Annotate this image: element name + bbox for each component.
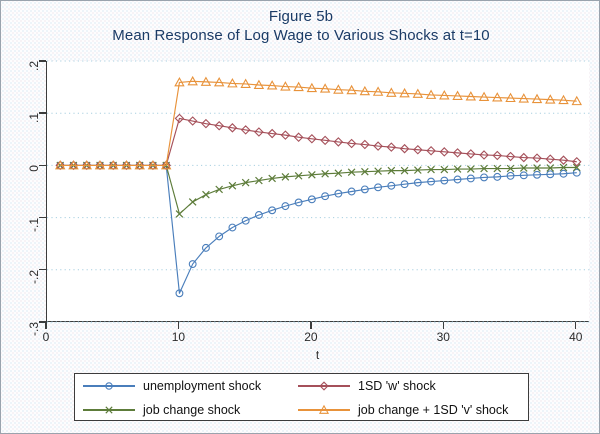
legend-entry-1sd-w-shock[interactable]: 1SD 'w' shock [290,375,530,397]
legend-key [83,403,135,417]
y-axis-tick-mark [39,112,46,113]
data-point-marker [203,191,210,198]
x-axis-tick-label: 20 [291,330,331,344]
legend-entry-job-change-1sd-v-shock[interactable]: job change + 1SD 'v' shock [290,399,530,421]
x-axis-tick-label: 40 [556,330,596,344]
data-point-marker [320,382,328,390]
data-point-marker [320,406,328,413]
legend-label: unemployment shock [143,379,261,393]
circle-marker-icon [103,380,115,392]
x-axis-label: t [46,348,589,362]
y-axis-tick-label: 0 [27,165,41,199]
series-line [60,118,577,165]
y-axis-tick: .1 [1,106,46,120]
diamond-marker-icon [318,380,330,392]
y-axis-tick: 0 [1,158,46,172]
data-series-layer [47,61,590,322]
y-axis-tick-mark [39,60,46,61]
title-line-primary: Figure 5b [1,7,600,26]
plot-inner [47,61,589,321]
y-axis-tick-label: .1 [27,113,41,147]
y-axis-tick-label: -.1 [27,218,41,252]
legend-label: 1SD 'w' shock [358,379,436,393]
legend-entry-unemployment-shock[interactable]: unemployment shock [75,375,290,397]
y-axis-tick: .2 [1,54,46,68]
data-point-marker [189,199,196,206]
series-line [60,165,577,214]
chart-title: Figure 5b Mean Response of Log Wage to V… [1,7,600,45]
data-point-marker [216,186,223,193]
y-axis-tick-label: -.2 [27,270,41,304]
y-axis-tick: -.2 [1,263,46,277]
data-point-marker [106,407,112,413]
x-axis-tick-mark [575,322,576,329]
y-axis-tick-mark [39,165,46,166]
x-axis-tick-mark [178,322,179,329]
chart-legend: unemployment shock1SD 'w' shockjob chang… [74,373,529,421]
triangle-marker-icon [318,404,330,416]
chart-figure: Figure 5b Mean Response of Log Wage to V… [0,0,600,434]
x-axis-tick-label: 0 [26,330,66,344]
title-line-secondary: Mean Response of Log Wage to Various Sho… [1,26,600,45]
series-line [60,165,577,293]
legend-label: job change + 1SD 'v' shock [358,403,508,417]
series-job-change-1sd-v-shock [56,77,581,169]
y-axis-tick-mark [39,217,46,218]
x-axis-tick-mark [443,322,444,329]
x-axis-tick-label: 30 [423,330,463,344]
legend-entry-job-change-shock[interactable]: job change shock [75,399,290,421]
y-axis-tick-mark [39,269,46,270]
legend-key [83,379,135,393]
cross-marker-icon [103,404,115,416]
y-axis-tick: -.3 [1,315,46,329]
x-axis-tick-label: 10 [158,330,198,344]
y-axis-tick: -.1 [1,211,46,225]
series-1sd-w-shock [56,114,581,169]
legend-key [298,403,350,417]
x-axis-tick-mark [45,322,46,329]
data-point-marker [106,383,112,389]
series-job-change-shock [57,162,580,217]
legend-label: job change shock [143,403,240,417]
data-point-marker [176,211,183,218]
legend-key [298,379,350,393]
plot-area [46,61,589,322]
y-axis-tick-label: .2 [27,61,41,95]
x-axis-tick-mark [310,322,311,329]
series-unemployment-shock [57,162,580,297]
